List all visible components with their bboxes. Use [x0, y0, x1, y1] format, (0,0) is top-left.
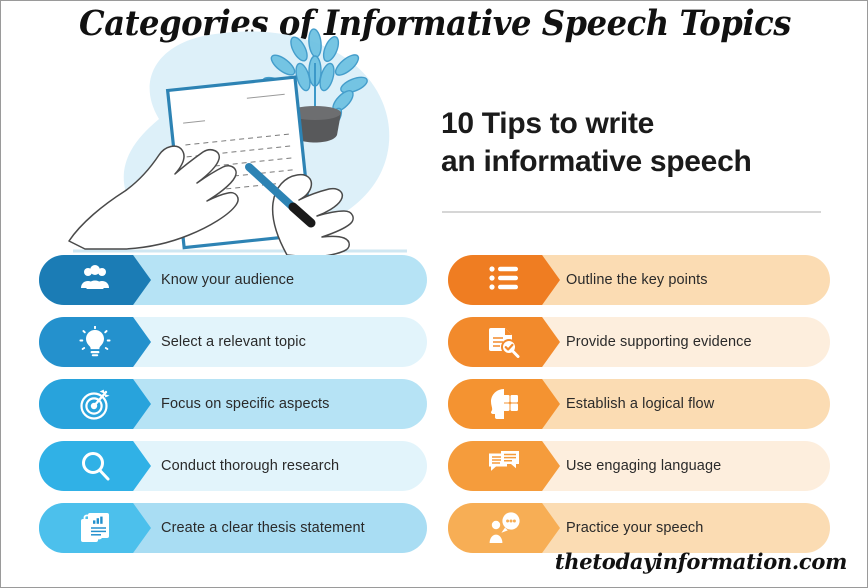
- tip-row[interactable]: Focus on specific aspects: [39, 379, 427, 429]
- tip-label: Establish a logical flow: [566, 379, 714, 429]
- section-heading: 10 Tips to write an informative speech: [441, 105, 841, 182]
- people-group-icon: [79, 264, 111, 296]
- tip-label: Create a clear thesis statement: [161, 503, 365, 553]
- tip-row[interactable]: Use engaging language: [448, 441, 830, 491]
- left-tips-column: Know your audience Select a relevant top…: [39, 255, 427, 565]
- watermark-footer: thetodayinformation.com: [1, 549, 847, 574]
- tip-row[interactable]: Provide supporting evidence: [448, 317, 830, 367]
- tip-icon-badge: [448, 503, 560, 553]
- tip-row[interactable]: Establish a logical flow: [448, 379, 830, 429]
- tip-label: Provide supporting evidence: [566, 317, 752, 367]
- tip-row[interactable]: Know your audience: [39, 255, 427, 305]
- right-tips-column: Outline the key points Provide supportin…: [448, 255, 830, 565]
- tip-label: Select a relevant topic: [161, 317, 306, 367]
- tip-icon-badge: [448, 379, 560, 429]
- tip-label: Know your audience: [161, 255, 294, 305]
- infographic-page: Categories of Informative Speech Topics: [0, 0, 868, 588]
- document-chart-icon: [79, 512, 111, 544]
- tip-row[interactable]: Create a clear thesis statement: [39, 503, 427, 553]
- bullet-list-icon: [488, 264, 520, 296]
- tip-label: Conduct thorough research: [161, 441, 339, 491]
- tip-label: Use engaging language: [566, 441, 721, 491]
- magnifier-icon: [79, 450, 111, 482]
- document-verify-icon: [488, 326, 520, 358]
- tip-icon-badge: [448, 441, 560, 491]
- tip-icon-badge: [39, 441, 151, 491]
- lightbulb-icon: [79, 326, 111, 358]
- tip-icon-badge: [448, 317, 560, 367]
- tip-label: Outline the key points: [566, 255, 708, 305]
- heading-line-1: 10 Tips to write: [441, 107, 654, 140]
- tip-icon-badge: [39, 503, 151, 553]
- tip-row[interactable]: Outline the key points: [448, 255, 830, 305]
- head-puzzle-icon: [488, 388, 520, 420]
- tip-row[interactable]: Practice your speech: [448, 503, 830, 553]
- hands-writing-illustration: [63, 27, 413, 257]
- tip-icon-badge: [39, 317, 151, 367]
- tip-icon-badge: [39, 379, 151, 429]
- heading-line-2: an informative speech: [441, 143, 841, 181]
- tip-row[interactable]: Select a relevant topic: [39, 317, 427, 367]
- tip-icon-badge: [39, 255, 151, 305]
- tip-icon-badge: [448, 255, 560, 305]
- chat-bubbles-icon: [488, 450, 520, 482]
- tip-row[interactable]: Conduct thorough research: [39, 441, 427, 491]
- person-speaking-icon: [488, 512, 520, 544]
- target-dart-icon: [79, 388, 111, 420]
- tip-label: Practice your speech: [566, 503, 703, 553]
- tip-label: Focus on specific aspects: [161, 379, 330, 429]
- heading-divider: [442, 211, 821, 213]
